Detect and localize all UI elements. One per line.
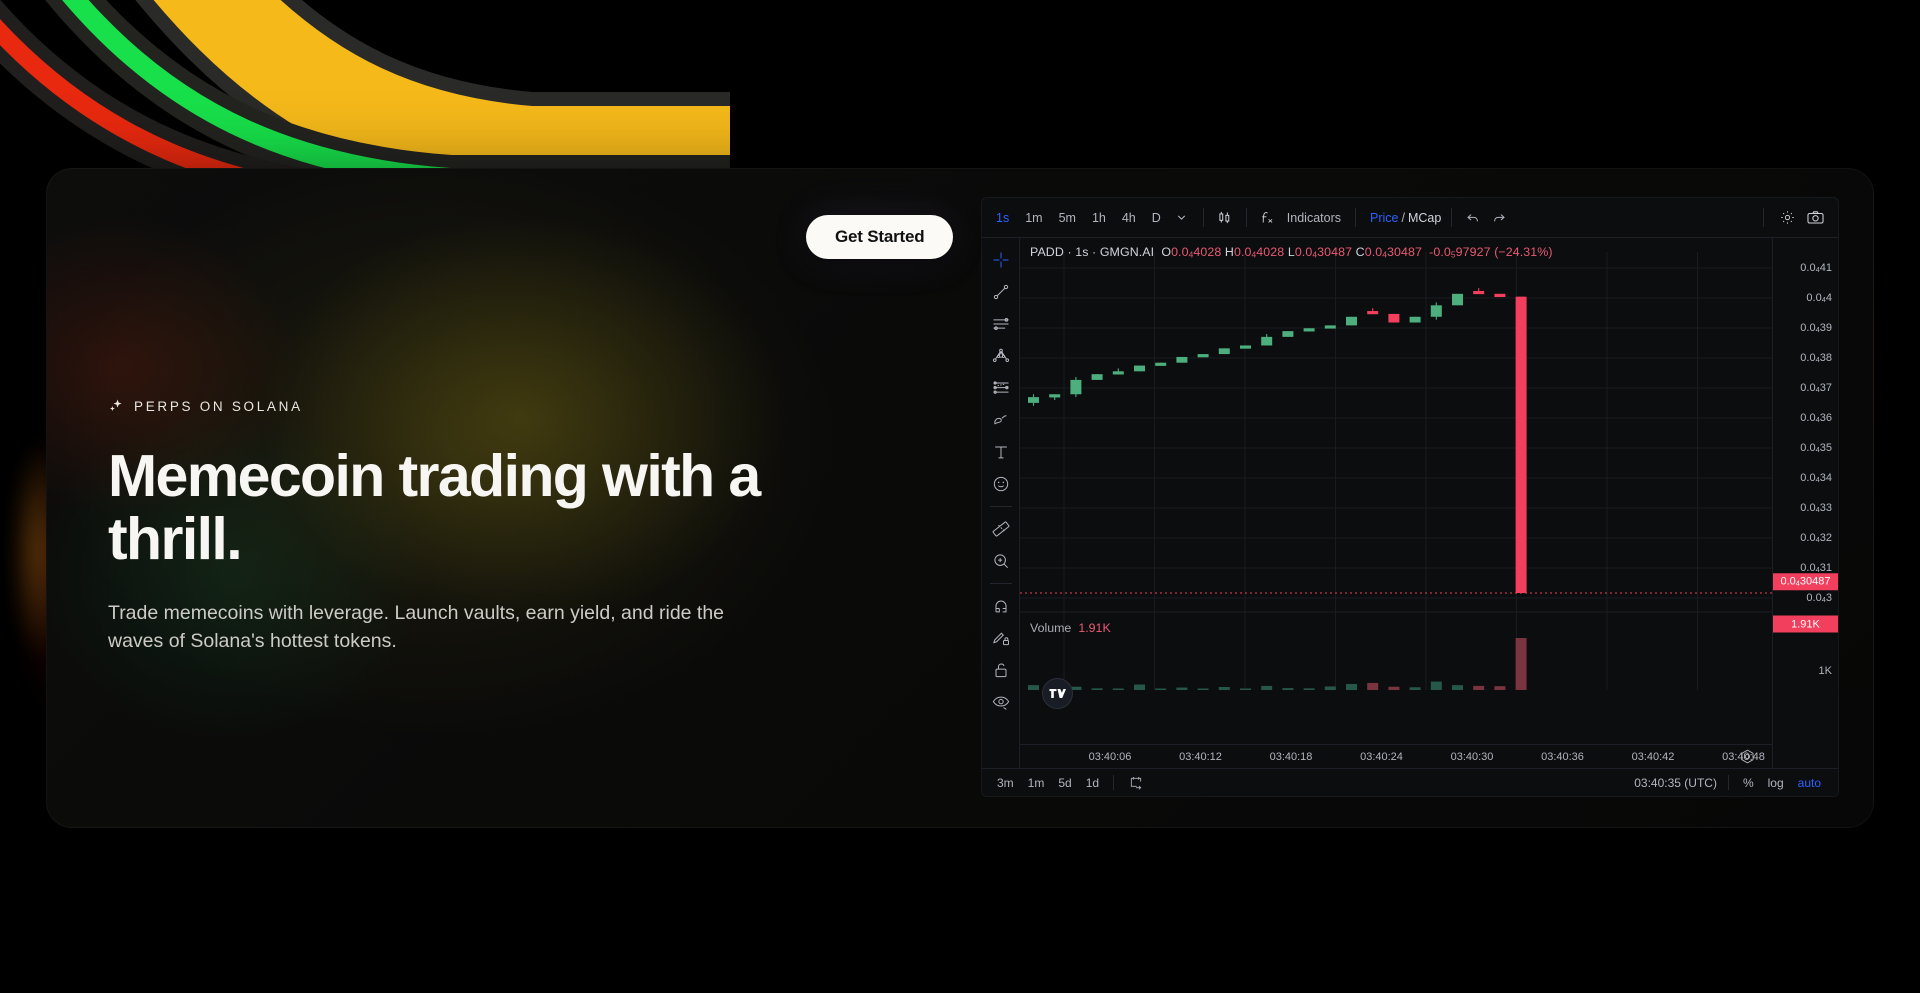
ohlc-h-pre: 0.0 <box>1234 245 1252 259</box>
timeframe-1s[interactable]: 1s <box>988 206 1017 230</box>
volume-bar <box>1282 688 1293 690</box>
lock-icon[interactable] <box>986 655 1016 685</box>
volume-bar <box>1028 685 1039 690</box>
candle <box>1028 397 1039 403</box>
volume-bar <box>1388 687 1399 690</box>
volume-bar <box>1410 687 1421 690</box>
price-tick: 0.0439 <box>1800 322 1832 334</box>
chart-symbol-label: PADD · 1s · GMGN.AI <box>1030 245 1154 259</box>
volume-legend: Volume1.91K <box>1030 621 1111 635</box>
volume-bar <box>1113 689 1124 691</box>
candle <box>1410 317 1421 323</box>
time-tick: 03:40:18 <box>1270 751 1313 763</box>
fx-icon[interactable] <box>1255 205 1281 231</box>
candle <box>1240 345 1251 348</box>
calendar-goto-icon[interactable] <box>1121 772 1151 794</box>
timeframe-5m[interactable]: 5m <box>1051 206 1084 230</box>
sparkle-icon <box>108 398 125 415</box>
gear-icon[interactable] <box>1774 205 1800 231</box>
time-tick: 03:40:30 <box>1451 751 1494 763</box>
price-tick: 0.0432 <box>1800 532 1832 544</box>
chart-body: PADD · 1s · GMGN.AI O0.044028 H0.044028 … <box>982 238 1838 797</box>
timeframe-4h[interactable]: 4h <box>1114 206 1144 230</box>
auto-scale-toggle[interactable]: auto <box>1791 773 1828 793</box>
ohlc-l-post: 30487 <box>1317 245 1352 259</box>
hero-text-block: PERPS ON SOLANA Memecoin trading with a … <box>108 398 808 655</box>
time-tick: 03:40:36 <box>1541 751 1584 763</box>
ohlc-o-key: O <box>1161 245 1171 259</box>
candle <box>1198 354 1209 357</box>
candle <box>1452 294 1463 305</box>
candle <box>1431 305 1442 316</box>
page-root: PERPS ON SOLANA Memecoin trading with a … <box>0 0 1920 993</box>
bottom-bar-right: 03:40:35 (UTC) % log auto <box>1634 773 1828 793</box>
volume-bar <box>1325 686 1336 690</box>
trading-chart-panel: 1s 1m 5m 1h 4h D In <box>981 197 1839 797</box>
camera-icon[interactable] <box>1802 205 1828 231</box>
pencil-lock-icon[interactable] <box>986 623 1016 653</box>
candle <box>1282 331 1293 337</box>
zoom-in-icon[interactable] <box>986 546 1016 576</box>
range-1m[interactable]: 1m <box>1021 773 1052 793</box>
brush-icon[interactable] <box>986 405 1016 435</box>
emoji-icon[interactable] <box>986 469 1016 499</box>
undo-icon[interactable] <box>1460 205 1486 231</box>
toolbar-divider <box>1451 208 1452 227</box>
fib-retracement-icon[interactable] <box>986 373 1016 403</box>
hero-subhead: Trade memecoins with leverage. Launch va… <box>108 600 748 655</box>
chart-bottom-bar: 3m 1m 5d 1d 03:40:35 (UTC) % log auto <box>982 768 1838 796</box>
price-toggle[interactable]: Price <box>1370 211 1398 225</box>
ohlc-chg-post: 97927 <box>1456 245 1491 259</box>
tradingview-logo-icon[interactable] <box>1042 678 1073 709</box>
time-axis[interactable]: 03:40:0603:40:1203:40:1803:40:2403:40:30… <box>1020 744 1772 770</box>
price-tick: 0.0433 <box>1800 502 1832 514</box>
rail-divider <box>990 583 1012 584</box>
time-tick: 03:40:06 <box>1089 751 1132 763</box>
get-started-button[interactable]: Get Started <box>806 215 953 259</box>
volume-bar <box>1134 685 1145 690</box>
volume-bar <box>1494 686 1505 690</box>
toolbar-divider <box>1355 208 1356 227</box>
candle <box>1049 394 1060 397</box>
timeframe-1h[interactable]: 1h <box>1084 206 1114 230</box>
horizontal-lines-icon[interactable] <box>986 309 1016 339</box>
time-tick: 03:40:48 <box>1722 751 1765 763</box>
volume-bar <box>1304 688 1315 690</box>
toggle-separator: / <box>1401 211 1404 225</box>
volume-bar <box>1155 689 1166 691</box>
price-tick: 0.0438 <box>1800 352 1832 364</box>
range-1d[interactable]: 1d <box>1079 773 1106 793</box>
candle <box>1219 348 1230 354</box>
price-tick: 0.043 <box>1806 592 1832 604</box>
volume-bar <box>1198 689 1209 691</box>
pitchfork-icon[interactable] <box>986 341 1016 371</box>
chart-canvas <box>1020 238 1772 797</box>
price-tick: 0.0441 <box>1800 262 1832 274</box>
candle <box>1325 325 1336 328</box>
ohlc-h-key: H <box>1225 245 1234 259</box>
price-tick: 0.0436 <box>1800 412 1832 424</box>
candle <box>1367 311 1378 314</box>
chart-top-toolbar: 1s 1m 5m 1h 4h D In <box>982 198 1838 238</box>
price-tick: 0.0435 <box>1800 442 1832 454</box>
magnet-icon[interactable] <box>986 591 1016 621</box>
volume-bar <box>1516 638 1527 690</box>
price-tick: 0.0434 <box>1800 472 1832 484</box>
ohlc-c-key: C <box>1356 245 1365 259</box>
price-tick: 0.044 <box>1806 292 1832 304</box>
ohlc-c-pre: 0.0 <box>1365 245 1383 259</box>
volume-bar <box>1261 686 1272 690</box>
chart-toolbar-right <box>1755 205 1828 231</box>
candle <box>1304 328 1315 331</box>
candlestick-icon[interactable] <box>1212 205 1238 231</box>
candle <box>1134 366 1145 372</box>
rail-divider <box>990 506 1012 507</box>
volume-value: 1.91K <box>1078 621 1110 635</box>
text-tool-icon[interactable] <box>986 437 1016 467</box>
ohlc-c-post: 30487 <box>1387 245 1422 259</box>
log-scale-toggle[interactable]: log <box>1761 773 1791 793</box>
toolbar-divider <box>1203 208 1204 227</box>
volume-value-badge: 1.91K <box>1773 616 1838 633</box>
range-3m[interactable]: 3m <box>990 773 1021 793</box>
price-axis[interactable]: 0.04410.0440.04390.04380.04370.04360.043… <box>1772 238 1838 797</box>
volume-label: Volume <box>1030 621 1071 635</box>
candle <box>1155 363 1166 366</box>
eyebrow-label: PERPS ON SOLANA <box>134 399 303 414</box>
candle <box>1388 314 1399 323</box>
price-tick: 0.0437 <box>1800 382 1832 394</box>
candle <box>1113 371 1124 374</box>
candle <box>1070 380 1081 394</box>
timeframe-1m[interactable]: 1m <box>1017 206 1050 230</box>
chevron-down-icon[interactable] <box>1169 205 1195 231</box>
indicators-button[interactable]: Indicators <box>1281 206 1347 230</box>
candle <box>1261 337 1272 346</box>
ohlc-change-pct: (−24.31%) <box>1494 245 1552 259</box>
crosshair-icon[interactable] <box>986 245 1016 275</box>
measure-ruler-icon[interactable] <box>986 514 1016 544</box>
ohlc-l-key: L <box>1288 245 1295 259</box>
bottom-divider <box>1113 775 1114 790</box>
ohlc-o-pre: 0.0 <box>1171 245 1189 259</box>
candle <box>1176 357 1187 363</box>
drawing-tools-rail <box>982 238 1020 797</box>
volume-bar <box>1240 689 1251 691</box>
volume-bar <box>1176 688 1187 690</box>
page-title: Memecoin trading with a thrill. <box>108 445 768 570</box>
time-tick: 03:40:24 <box>1360 751 1403 763</box>
time-tick: 03:40:12 <box>1179 751 1222 763</box>
range-5d[interactable]: 5d <box>1051 773 1078 793</box>
volume-bar <box>1219 687 1230 690</box>
last-price-badge: 0.0430487 <box>1773 573 1838 590</box>
percent-scale-toggle[interactable]: % <box>1736 773 1761 793</box>
timeframe-d[interactable]: D <box>1144 206 1169 230</box>
volume-bar <box>1431 682 1442 690</box>
volume-bar <box>1092 688 1103 690</box>
redo-icon[interactable] <box>1486 205 1512 231</box>
candle <box>1092 374 1103 380</box>
bottom-divider <box>1728 775 1729 790</box>
mcap-toggle[interactable]: MCap <box>1408 211 1441 225</box>
volume-bar <box>1452 685 1463 690</box>
volume-bar <box>1346 684 1357 690</box>
ohlc-o-post: 4028 <box>1193 245 1221 259</box>
ohlc-chg-pre: -0.0 <box>1429 245 1451 259</box>
volume-axis-tick: 1K <box>1819 665 1832 677</box>
candle <box>1346 317 1357 326</box>
chart-legend-ohlc: PADD · 1s · GMGN.AI O0.044028 H0.044028 … <box>1030 245 1553 260</box>
ohlc-h-post: 4028 <box>1256 245 1284 259</box>
volume-bar <box>1473 686 1484 690</box>
eyebrow: PERPS ON SOLANA <box>108 398 808 415</box>
time-tick: 03:40:42 <box>1632 751 1675 763</box>
toolbar-divider <box>1246 208 1247 227</box>
eye-hide-icon[interactable] <box>986 687 1016 717</box>
trend-line-icon[interactable] <box>986 277 1016 307</box>
chart-plot-area[interactable]: PADD · 1s · GMGN.AI O0.044028 H0.044028 … <box>1020 238 1772 797</box>
candle <box>1516 297 1527 593</box>
candle <box>1473 291 1484 294</box>
candle <box>1494 294 1505 297</box>
volume-bar <box>1367 683 1378 690</box>
chart-clock-time: 03:40:35 (UTC) <box>1634 776 1717 790</box>
toolbar-divider <box>1763 208 1764 227</box>
ohlc-l-pre: 0.0 <box>1295 245 1313 259</box>
